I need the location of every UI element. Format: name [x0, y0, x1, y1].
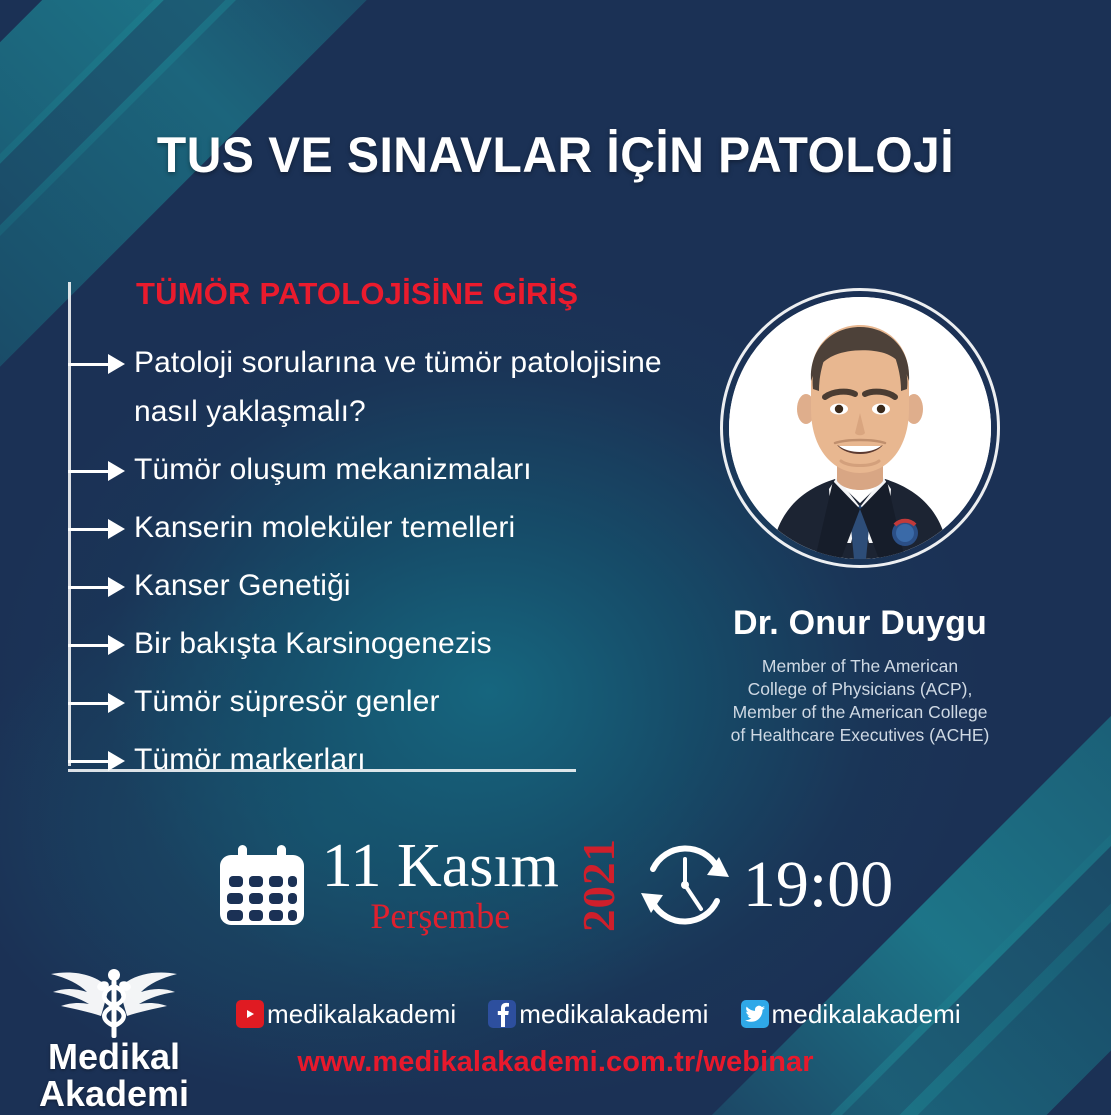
- datetime-section: 11 Kasım Perşembe 2021 19:00: [0, 830, 1111, 940]
- webinar-poster: TUS VE SINAVLAR İÇİN PATOLOJİ TÜMÖR PATO…: [0, 0, 1111, 1115]
- arrow-right-icon: [68, 347, 128, 383]
- speaker-credentials: Member of The American College of Physic…: [660, 655, 1060, 747]
- date-stack: 11 Kasım Perşembe: [322, 836, 559, 934]
- clock-icon: [639, 841, 731, 929]
- arrow-right-icon: [68, 512, 128, 548]
- list-item: Tümör markerları: [68, 735, 688, 784]
- credential-line: College of Physicians (ACP),: [660, 678, 1060, 701]
- list-item: Patoloji sorularına ve tümör patolojisin…: [68, 338, 688, 436]
- list-item: Tümör süpresör genler: [68, 677, 688, 726]
- social-handle: medikalakademi: [267, 1000, 456, 1028]
- list-item: Tümör oluşum mekanizmaları: [68, 445, 688, 494]
- speaker-portrait: [729, 297, 991, 559]
- social-link-twitter[interactable]: medikalakademi: [741, 1000, 961, 1028]
- date-group: 11 Kasım Perşembe 2021 19:00: [218, 836, 893, 934]
- brand-logo: Medikal Akademi: [14, 966, 214, 1112]
- social-handle: medikalakademi: [772, 1000, 961, 1028]
- list-item: Bir bakışta Karsinogenezis: [68, 619, 688, 668]
- year-value: 2021: [573, 838, 625, 932]
- calendar-icon: [218, 843, 306, 927]
- list-item: Kanser Genetiği: [68, 561, 688, 610]
- caduceus-icon: [39, 966, 189, 1038]
- agenda-item-label: Kanser Genetiği: [128, 561, 351, 610]
- speaker-section: Dr. Onur Duygu Member of The American Co…: [660, 288, 1060, 747]
- arrow-right-icon: [68, 628, 128, 664]
- credential-line: of Healthcare Executives (ACHE): [660, 724, 1060, 747]
- date-value: 11 Kasım: [322, 836, 559, 896]
- credential-line: Member of the American College: [660, 701, 1060, 724]
- social-handle: medikalakademi: [519, 1000, 708, 1028]
- speaker-name: Dr. Onur Duygu: [660, 604, 1060, 643]
- arrow-right-icon: [68, 686, 128, 722]
- arrow-right-icon: [68, 570, 128, 606]
- arrow-right-icon: [68, 454, 128, 490]
- poster-title: TUS VE SINAVLAR İÇİN PATOLOJİ: [22, 126, 1089, 184]
- weekday-value: Perşembe: [370, 898, 510, 934]
- avatar: [720, 288, 1000, 568]
- agenda-item-label: Tümör oluşum mekanizmaları: [128, 445, 532, 494]
- credential-line: Member of The American: [660, 655, 1060, 678]
- time-value: 19:00: [743, 852, 893, 918]
- agenda-item-label: Bir bakışta Karsinogenezis: [128, 619, 492, 668]
- youtube-icon[interactable]: [236, 1000, 264, 1028]
- agenda-item-label: Tümör süpresör genler: [128, 677, 440, 726]
- website-url[interactable]: www.medikalakademi.com.tr/webinar: [0, 1046, 1111, 1079]
- agenda-item-label: Patoloji sorularına ve tümör patolojisin…: [128, 338, 688, 436]
- social-link-youtube[interactable]: medikalakademi: [236, 1000, 456, 1028]
- social-link-facebook[interactable]: medikalakademi: [488, 1000, 708, 1028]
- social-links: medikalakademi medikalakademi medikalaka…: [236, 1000, 926, 1028]
- agenda-heading: TÜMÖR PATOLOJİSİNE GİRİŞ: [136, 276, 578, 312]
- agenda-section: TÜMÖR PATOLOJİSİNE GİRİŞ Patoloji sorula…: [68, 276, 688, 772]
- agenda-item-label: Tümör markerları: [128, 735, 366, 784]
- arrow-right-icon: [68, 744, 128, 780]
- facebook-icon[interactable]: [488, 1000, 516, 1028]
- twitter-icon[interactable]: [741, 1000, 769, 1028]
- logo-line-2: Akademi: [14, 1075, 214, 1112]
- list-item: Kanserin moleküler temelleri: [68, 503, 688, 552]
- agenda-item-label: Kanserin moleküler temelleri: [128, 503, 515, 552]
- agenda-list: Patoloji sorularına ve tümör patolojisin…: [68, 338, 688, 793]
